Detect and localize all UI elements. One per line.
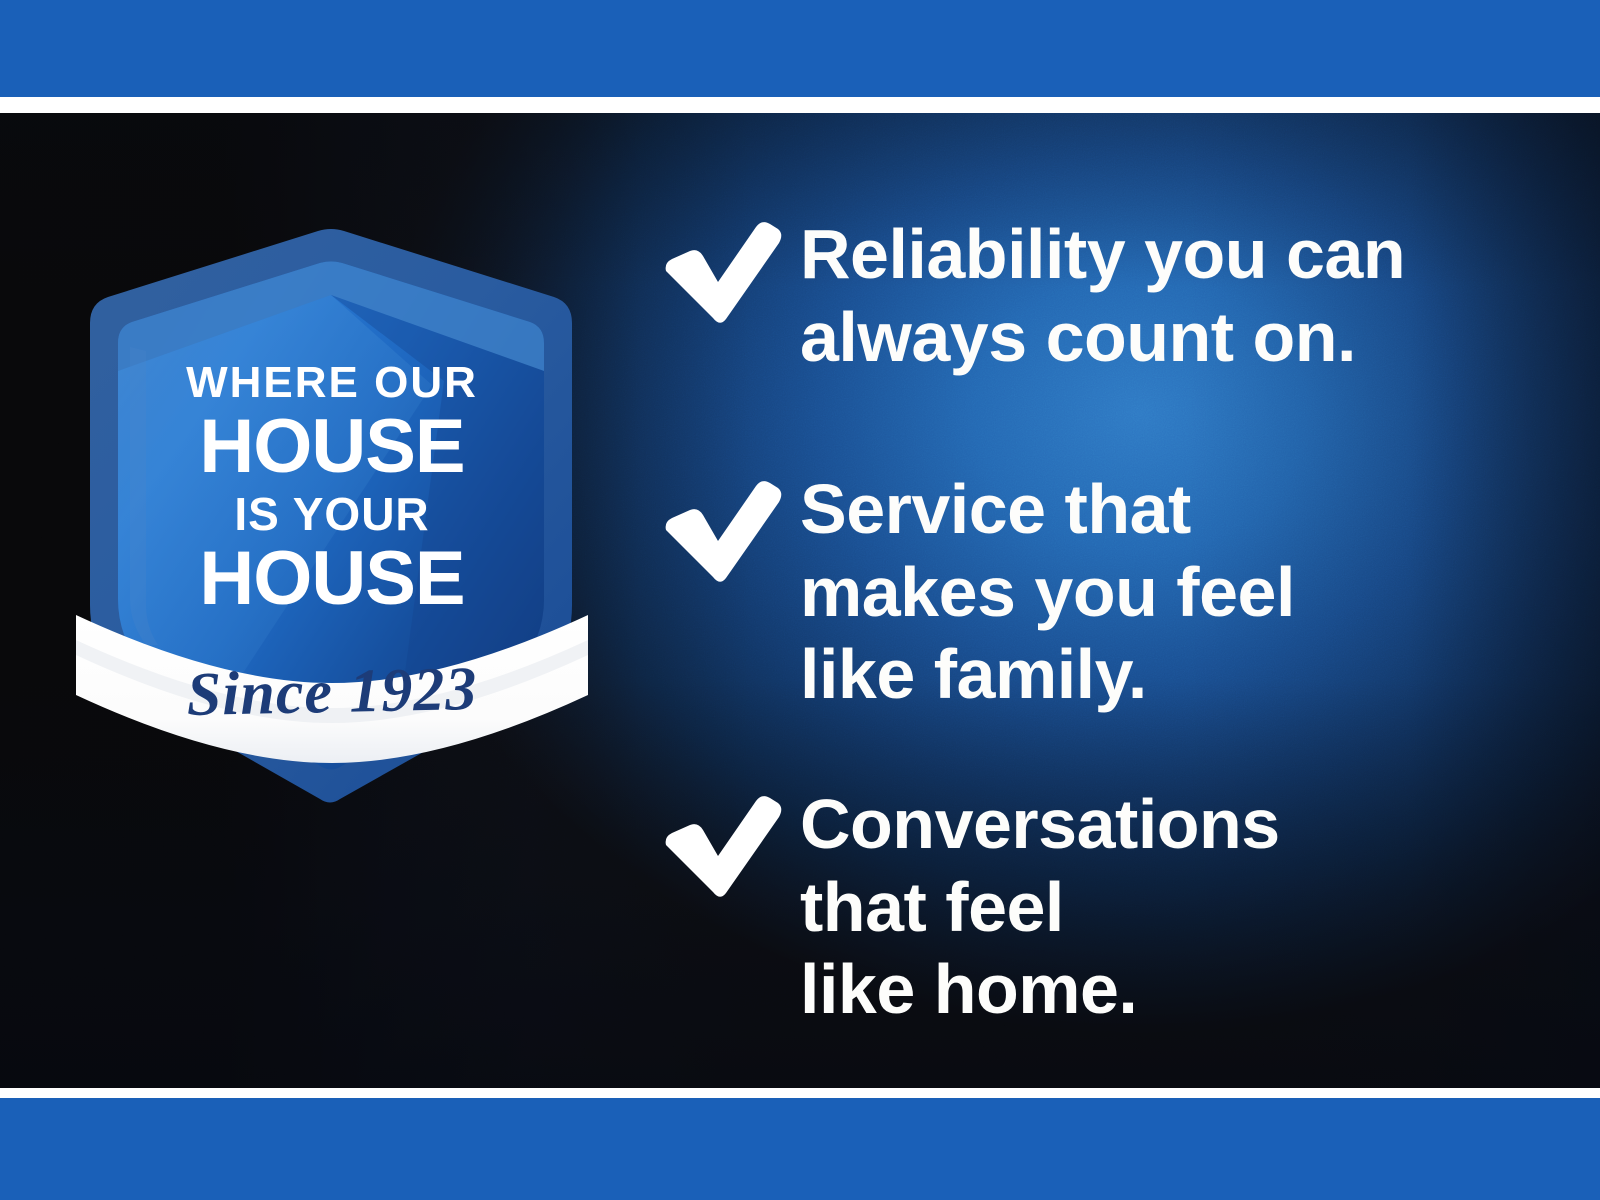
bottom-brand-bar [0, 1098, 1600, 1200]
top-brand-bar [0, 0, 1600, 97]
checkmark-icon [660, 213, 800, 328]
list-item: Conversations that feel like home. [660, 783, 1520, 1031]
checkmark-icon [660, 468, 800, 587]
value-prop-list: Reliability you can always count on. Ser… [660, 113, 1520, 1088]
list-item: Service that makes you feel like family. [660, 468, 1520, 716]
list-item-text: Reliability you can always count on. [800, 213, 1405, 378]
list-item-text: Service that makes you feel like family. [800, 468, 1295, 716]
list-item: Reliability you can always count on. [660, 213, 1520, 378]
checkmark-icon [660, 783, 800, 902]
list-item-text: Conversations that feel like home. [800, 783, 1280, 1031]
company-shield-logo: Where Our House Is Your House Since 1923 [72, 175, 592, 815]
promo-card: Where Our House Is Your House Since 1923… [0, 0, 1600, 1200]
shield-graphic [72, 175, 592, 815]
